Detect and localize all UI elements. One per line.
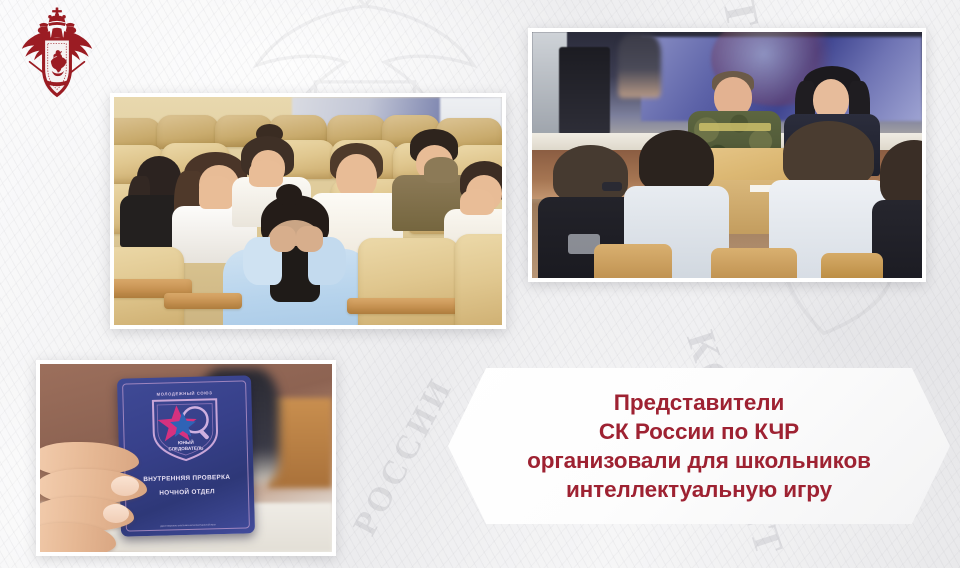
poster-canvas: СЛЕДСТВЕННЫЙ КОМИТЕТ РОССИИ xyxy=(0,0,960,568)
investigative-committee-emblem-icon xyxy=(13,6,101,104)
photo-meeting xyxy=(528,28,926,282)
headline-line-2: СК России по КЧР xyxy=(527,417,871,446)
headline-banner: Представители СК России по КЧР организов… xyxy=(448,368,950,524)
photo-id-card: МОЛОДЕЖНЫЙ СОЮЗ ЮНЫЙ СЛЕДОВАТЕЛЬ В xyxy=(36,360,336,556)
headline-line-4: интеллектуальную игру xyxy=(527,475,871,504)
headline-line-3: организовали для школьников xyxy=(527,446,871,475)
photo-auditorium-image xyxy=(114,97,502,325)
headline-line-1: Представители xyxy=(527,388,871,417)
photo-id-card-image: МОЛОДЕЖНЫЙ СОЮЗ ЮНЫЙ СЛЕДОВАТЕЛЬ В xyxy=(40,364,332,552)
headline-text: Представители СК России по КЧР организов… xyxy=(513,388,885,505)
hand-holding-card xyxy=(40,439,157,552)
id-card-emblem-subtitle: ЮНЫЙ СЛЕДОВАТЕЛЬ xyxy=(168,440,203,452)
id-card-emblem-subtitle-line2: СЛЕДОВАТЕЛЬ xyxy=(168,446,203,452)
id-card-emblem-subtitle-line1: ЮНЫЙ xyxy=(178,440,194,445)
watermark-text-3: РОССИИ xyxy=(346,371,461,542)
photo-auditorium xyxy=(110,93,506,329)
photo-meeting-image xyxy=(532,32,922,278)
